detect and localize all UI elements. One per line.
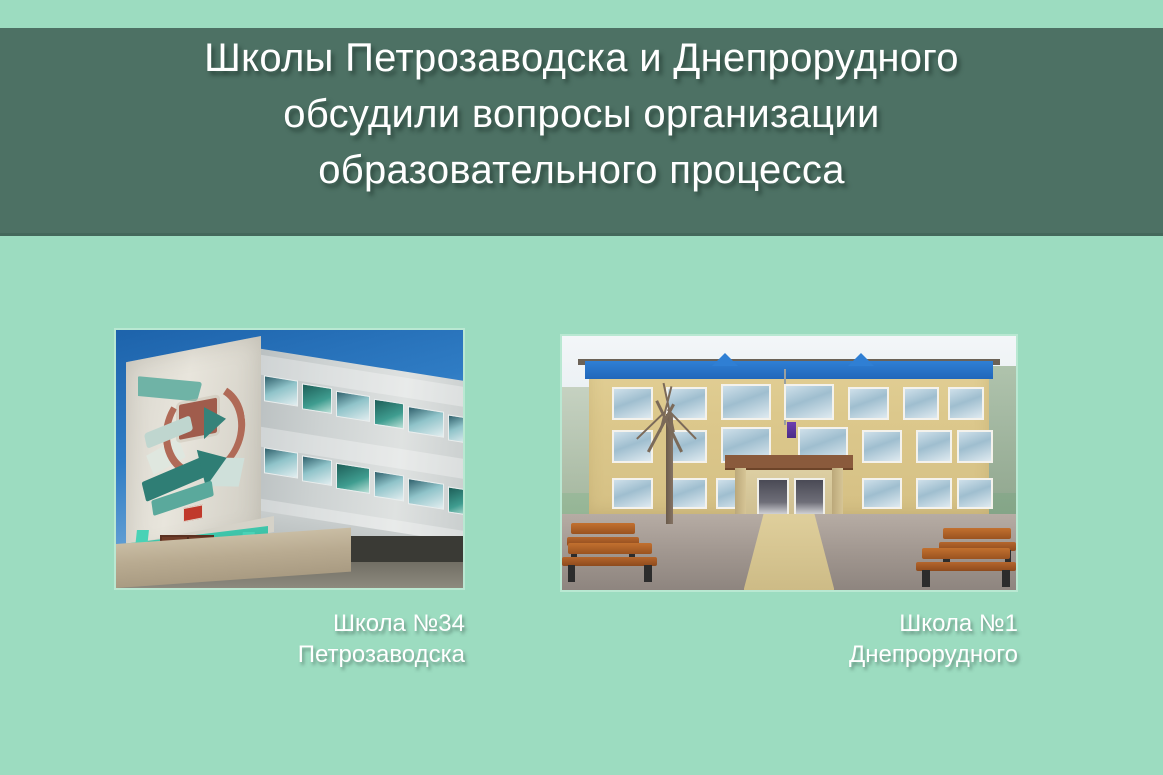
title-line-1: Школы Петрозаводска и Днепрорудного xyxy=(0,30,1163,86)
photo-right-content xyxy=(562,336,1016,590)
caption-school-34: Школа №34 Петрозаводска xyxy=(165,608,465,670)
caption-left-line-2: Петрозаводска xyxy=(165,639,465,670)
mosaic-mural xyxy=(138,346,251,541)
slide-title: Школы Петрозаводска и Днепрорудного обсу… xyxy=(0,30,1163,198)
title-line-3: образовательного процесса xyxy=(0,142,1163,198)
top-accent-strip xyxy=(0,0,1163,28)
entrance-door-left xyxy=(757,478,789,519)
photo-left-content xyxy=(116,330,463,588)
photo-school-1-dniprorudne xyxy=(560,334,1018,592)
bare-tree xyxy=(612,366,730,523)
bench-left-near xyxy=(562,542,657,583)
caption-right-line-1: Школа №1 xyxy=(718,608,1018,639)
caption-right-line-2: Днепрорудного xyxy=(718,639,1018,670)
bench-right-near xyxy=(916,547,1016,588)
photo-school-34-petrozavodsk xyxy=(114,328,465,590)
title-line-2: обсудили вопросы организации xyxy=(0,86,1163,142)
flag xyxy=(787,422,796,438)
caption-school-1: Школа №1 Днепрорудного xyxy=(718,608,1018,670)
entrance-door-right xyxy=(794,478,826,519)
mural-plaque xyxy=(183,504,203,522)
presentation-slide: Школы Петрозаводска и Днепрорудного обсу… xyxy=(0,0,1163,775)
caption-left-line-1: Школа №34 xyxy=(165,608,465,639)
